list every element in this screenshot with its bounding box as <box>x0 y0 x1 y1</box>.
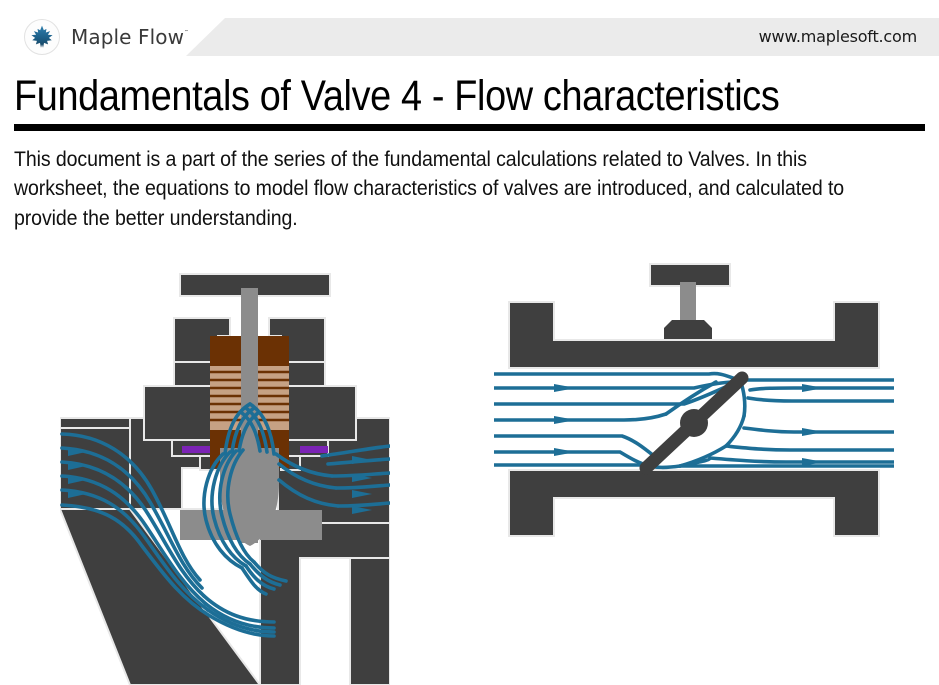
butterfly-valve-cutaway-diagram <box>494 258 894 685</box>
maple-leaf-icon <box>24 19 60 55</box>
plug-stem-join <box>241 418 258 478</box>
maple-flow-logo[interactable]: Maple Flow˜ <box>24 18 189 56</box>
title-underline-rule <box>14 124 925 131</box>
page-header: Maple Flow˜ www.maplesoft.com <box>0 0 939 62</box>
logo-trademark-icon: ˜ <box>184 30 189 40</box>
logo-wordmark: Maple Flow˜ <box>71 25 189 49</box>
title-block: Fundamentals of Valve 4 - Flow character… <box>14 74 925 131</box>
website-url[interactable]: www.maplesoft.com <box>759 18 917 56</box>
globe-valve-cutaway-diagram <box>60 258 390 685</box>
valve-illustrations <box>0 258 939 685</box>
pivot-hub <box>680 409 708 437</box>
page-title: Fundamentals of Valve 4 - Flow character… <box>14 74 816 120</box>
intro-paragraph: This document is a part of the series of… <box>14 145 856 234</box>
stem-boss <box>664 320 712 342</box>
lower-body <box>509 470 879 536</box>
